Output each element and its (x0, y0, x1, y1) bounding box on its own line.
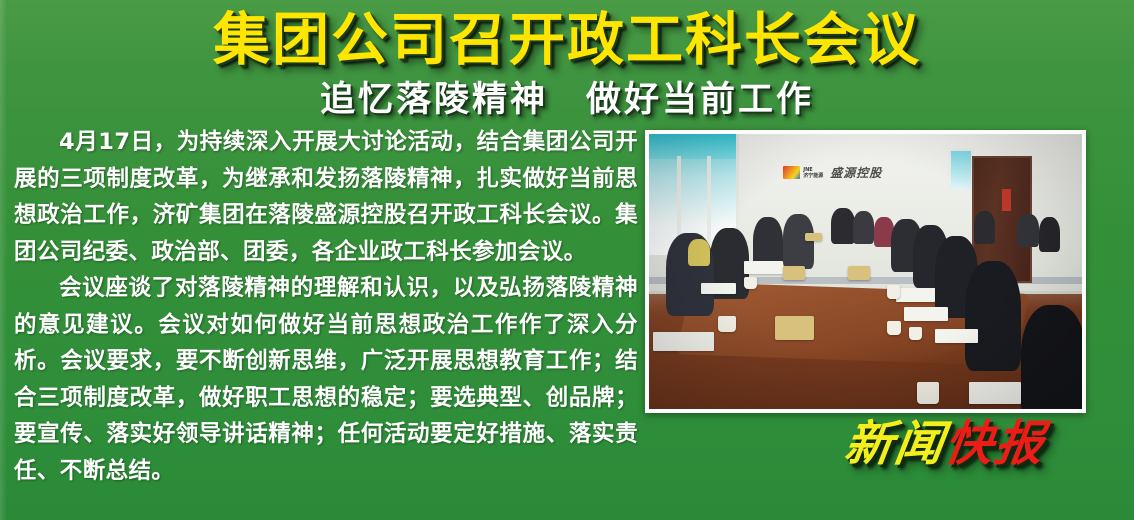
news-flash-badge: 新闻快报 (841, 416, 1049, 472)
page-subtitle: 追忆落陵精神 做好当前工作 (0, 79, 1134, 121)
news-poster: 集团公司召开政工科长会议 追忆落陵精神 做好当前工作 4月17日，为持续深入开展… (0, 0, 1134, 520)
article-body: 4月17日，为持续深入开展大讨论活动，结合集团公司开展的三项制度改革，为继承和发… (14, 124, 638, 489)
news-flash-part-two: 快报 (941, 416, 1049, 472)
news-flash-part-one: 新闻 (841, 416, 949, 472)
meeting-photo: JNE 济宁能源 盛源控股 (649, 134, 1082, 409)
photo-vignette (649, 134, 1082, 409)
article-paragraph-2: 会议座谈了对落陵精神的理解和认识，以及弘扬落陵精神的意见建议。会议对如何做好当前… (14, 270, 638, 489)
page-title: 集团公司召开政工科长会议 (0, 8, 1134, 72)
photo-frame: JNE 济宁能源 盛源控股 (645, 130, 1086, 413)
article-paragraph-1: 4月17日，为持续深入开展大讨论活动，结合集团公司开展的三项制度改革，为继承和发… (14, 124, 638, 270)
